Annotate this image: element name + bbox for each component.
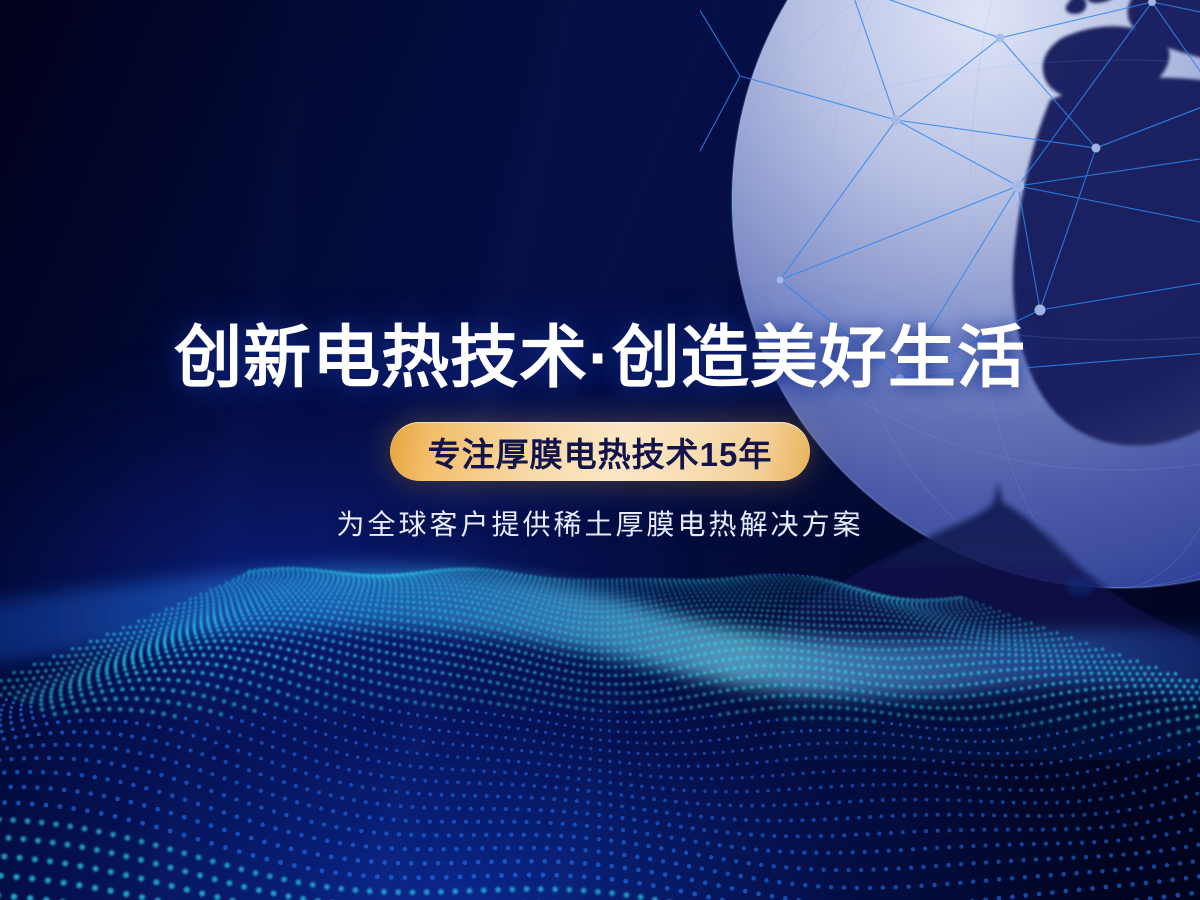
page-title: 创新电热技术·创造美好生活 bbox=[0, 322, 1200, 394]
banner-copy: 创新电热技术·创造美好生活 专注厚膜电热技术15年 为全球客户提供稀土厚膜电热解… bbox=[0, 322, 1200, 543]
hero-banner: 创新电热技术·创造美好生活 专注厚膜电热技术15年 为全球客户提供稀土厚膜电热解… bbox=[0, 0, 1200, 900]
status-badge: 专注厚膜电热技术15年 bbox=[390, 422, 811, 481]
badge-row: 专注厚膜电热技术15年 bbox=[0, 422, 1200, 481]
banner-subtitle: 为全球客户提供稀土厚膜电热解决方案 bbox=[0, 503, 1200, 543]
